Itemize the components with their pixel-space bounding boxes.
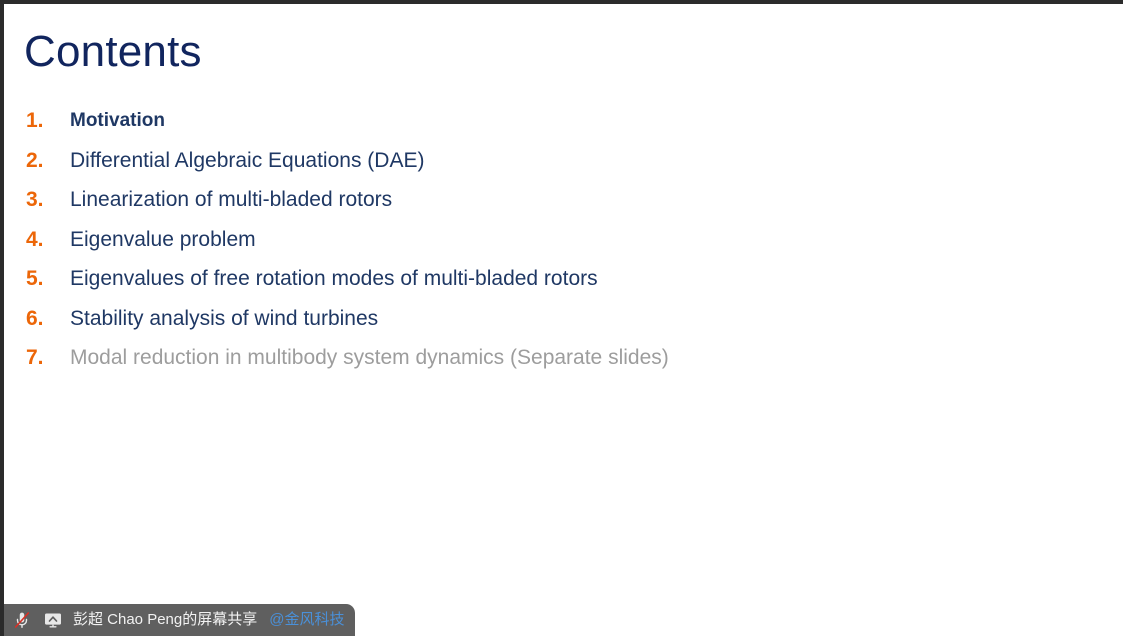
list-item-number: 4.: [26, 227, 70, 253]
list-item-label: Eigenvalues of free rotation modes of mu…: [70, 266, 598, 292]
list-item[interactable]: 5. Eigenvalues of free rotation modes of…: [26, 266, 1066, 306]
list-item[interactable]: 6. Stability analysis of wind turbines: [26, 306, 1066, 346]
screen-share-icon[interactable]: [42, 609, 64, 631]
list-item[interactable]: 3. Linearization of multi-bladed rotors: [26, 187, 1066, 227]
list-item[interactable]: 7. Modal reduction in multibody system d…: [26, 345, 1066, 385]
list-item-number: 6.: [26, 306, 70, 332]
list-item[interactable]: 4. Eigenvalue problem: [26, 227, 1066, 267]
list-item[interactable]: 1. Motivation: [26, 108, 1066, 148]
screenshare-label: 彭超 Chao Peng的屏幕共享: [73, 604, 257, 636]
list-item-label: Motivation: [70, 108, 165, 134]
slide-canvas: Contents 1. Motivation 2. Differential A…: [4, 4, 1123, 636]
list-item-number: 7.: [26, 345, 70, 371]
contents-list: 1. Motivation 2. Differential Algebraic …: [26, 108, 1066, 385]
list-item-number: 5.: [26, 266, 70, 292]
list-item-label: Eigenvalue problem: [70, 227, 256, 253]
screenshare-status-bar[interactable]: 彭超 Chao Peng的屏幕共享 @金风科技: [4, 604, 355, 636]
list-item-label: Stability analysis of wind turbines: [70, 306, 378, 332]
list-item-number: 2.: [26, 148, 70, 174]
microphone-muted-icon[interactable]: [11, 609, 33, 631]
list-item-label: Modal reduction in multibody system dyna…: [70, 345, 669, 371]
page-title: Contents: [24, 26, 202, 78]
list-item[interactable]: 2. Differential Algebraic Equations (DAE…: [26, 148, 1066, 188]
list-item-label: Differential Algebraic Equations (DAE): [70, 148, 424, 174]
presentation-frame: Contents 1. Motivation 2. Differential A…: [0, 0, 1123, 636]
screenshare-org-label: @金风科技: [269, 604, 344, 636]
list-item-number: 1.: [26, 108, 70, 134]
list-item-number: 3.: [26, 187, 70, 213]
list-item-label: Linearization of multi-bladed rotors: [70, 187, 392, 213]
